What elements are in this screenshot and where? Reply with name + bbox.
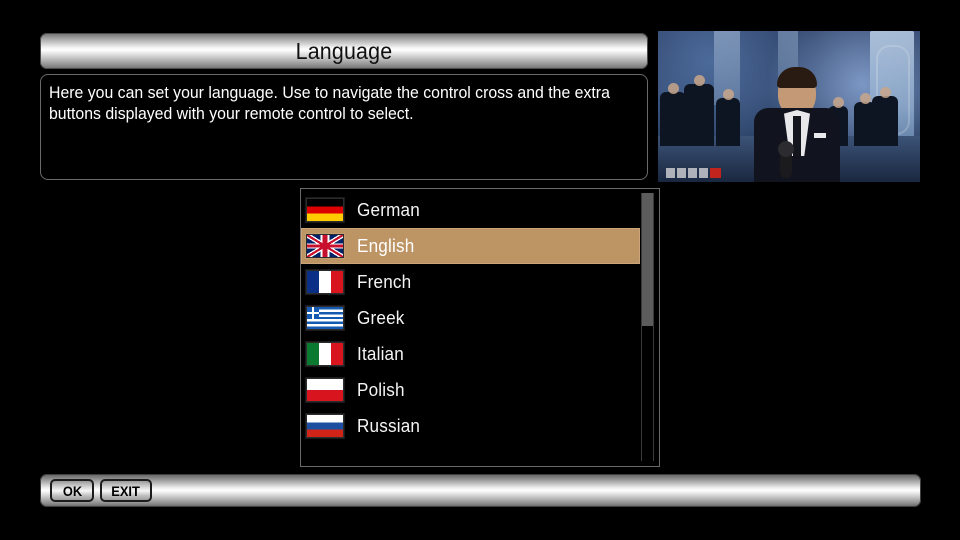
title-bar: Language [40, 33, 648, 69]
reporter-pocket-square [814, 133, 826, 138]
flag-poland-icon [306, 378, 344, 402]
flag-united-kingdom-icon [306, 234, 344, 258]
list-item[interactable]: Greek [301, 300, 641, 336]
language-list-panel[interactable]: German English French Greek Italian Poli [300, 188, 660, 467]
list-item-selected[interactable]: English [301, 228, 640, 264]
flag-france-icon [306, 270, 344, 294]
action-bar: OK EXIT [40, 474, 921, 507]
ok-button-label: OK [62, 483, 81, 499]
video-preview[interactable] [657, 30, 921, 183]
language-label: Italian [357, 344, 404, 365]
language-label: French [357, 272, 411, 293]
language-label: Russian [357, 416, 420, 437]
channel-logo-icon [666, 167, 721, 178]
exit-button-label: EXIT [112, 483, 141, 499]
reporter-figure [754, 70, 840, 182]
flag-russia-icon [306, 414, 344, 438]
flag-greece-icon [306, 306, 344, 330]
language-list: German English French Greek Italian Poli [301, 192, 641, 444]
list-item[interactable]: Italian [301, 336, 641, 372]
flag-italy-icon [306, 342, 344, 366]
page-title: Language [296, 38, 393, 65]
list-item[interactable]: Russian [301, 408, 641, 444]
description-panel: Here you can set your language. Use to n… [40, 74, 648, 180]
exit-button[interactable]: EXIT [100, 479, 152, 502]
flag-germany-icon [306, 198, 344, 222]
ok-button[interactable]: OK [50, 479, 94, 502]
list-item[interactable]: German [301, 192, 641, 228]
reporter-tie [793, 116, 801, 156]
language-label: Polish [357, 380, 405, 401]
scrollbar-thumb[interactable] [642, 193, 653, 326]
reporter-hair [777, 67, 817, 88]
description-text: Here you can set your language. Use to n… [49, 83, 612, 125]
osd-screen: Language Here you can set your language.… [0, 0, 960, 540]
language-label: English [357, 236, 414, 257]
list-item[interactable]: Polish [301, 372, 641, 408]
language-label: Greek [357, 308, 405, 329]
language-label: German [357, 200, 420, 221]
microphone-icon [780, 148, 792, 178]
scrollbar-track[interactable] [641, 193, 654, 461]
list-item[interactable]: French [301, 264, 641, 300]
